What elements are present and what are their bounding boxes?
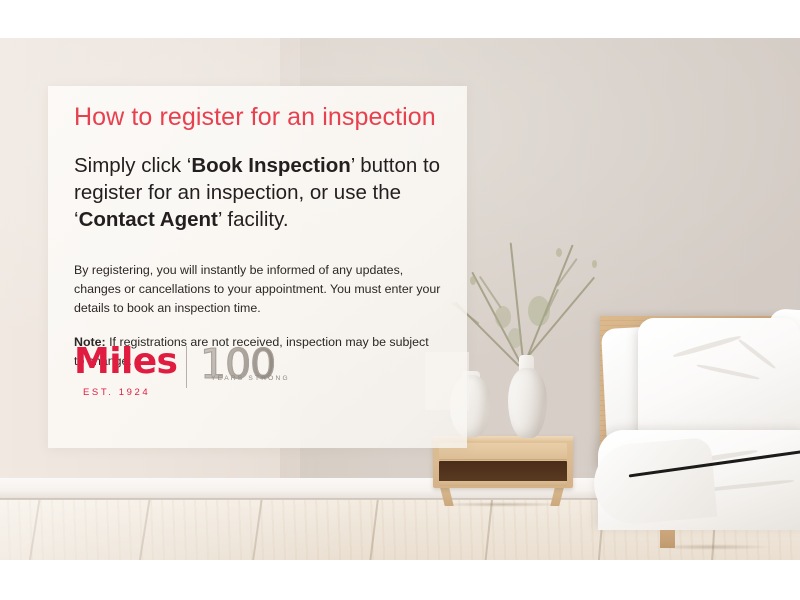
branch-foliage <box>495 306 511 328</box>
branch-foliage <box>508 328 522 348</box>
pillow-main <box>638 318 800 444</box>
miles-logo: Miles EST. 1924 100 YEARS STRONG <box>74 344 304 424</box>
branch-bud <box>556 248 562 257</box>
pillow-crease <box>738 338 777 369</box>
logo-divider <box>186 346 187 388</box>
book-inspection-label: Book Inspection <box>191 154 350 177</box>
nightstand-shelf-lip <box>439 481 567 486</box>
lead-text-3: ’ facility. <box>218 208 289 231</box>
vase-right <box>508 368 547 438</box>
pillow-crease <box>673 334 742 358</box>
branch-foliage <box>528 296 550 326</box>
nightstand-open-shelf <box>439 461 567 482</box>
lead-text-1: Simply click ‘ <box>74 154 191 177</box>
lead-paragraph: Simply click ‘Book Inspection’ button to… <box>74 152 441 234</box>
branch-bud <box>592 260 597 268</box>
screenshot-canvas: How to register for an inspection Simply… <box>0 0 800 600</box>
branch-bud <box>470 276 476 285</box>
pillow-crease <box>696 363 759 380</box>
info-card: How to register for an inspection Simply… <box>48 86 467 448</box>
page-title: How to register for an inspection <box>74 104 441 132</box>
registration-info-paragraph: By registering, you will instantly be in… <box>74 261 441 318</box>
anniversary-caption: YEARS STRONG <box>211 375 290 382</box>
contact-agent-label: Contact Agent <box>79 208 218 231</box>
nightstand-shadow <box>437 502 567 507</box>
anniversary-badge: 100 <box>200 344 304 390</box>
duvet-fold <box>591 437 718 527</box>
